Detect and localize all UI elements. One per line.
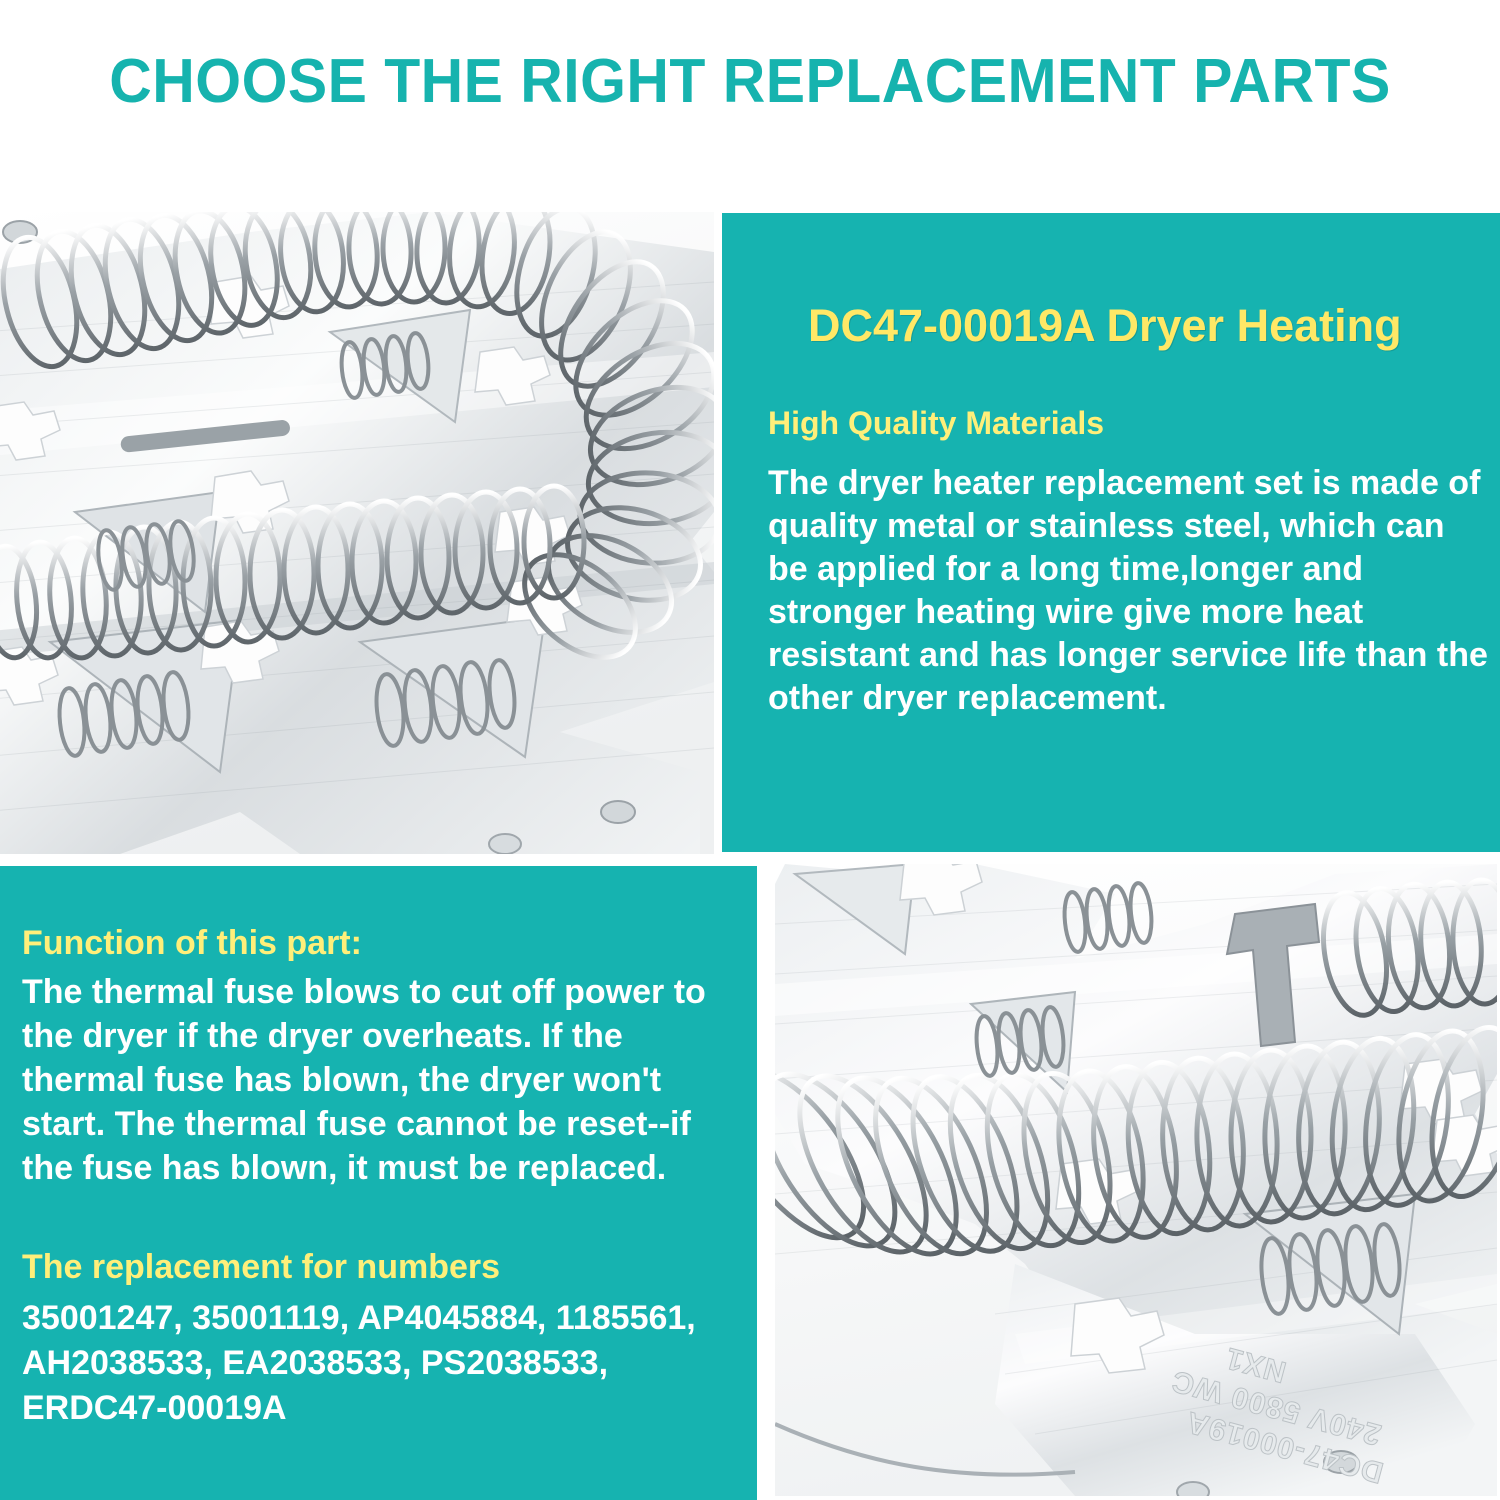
quality-subtitle: High Quality Materials	[768, 403, 1468, 443]
page-title: CHOOSE THE RIGHT REPLACEMENT PARTS	[38, 46, 1463, 118]
replacement-numbers-list: 35001247, 35001119, AP4045884, 1185561, …	[22, 1296, 722, 1431]
bottom-info-panel: Function of this part: The thermal fuse …	[0, 866, 757, 1500]
replacement-numbers-heading: The replacement for numbers	[22, 1246, 722, 1288]
heating-element-illustration-top: P13312	[0, 212, 714, 854]
function-description: The thermal fuse blows to cut off power …	[22, 970, 750, 1190]
top-info-panel: DC47-00019A Dryer Heating High Quality M…	[722, 213, 1500, 852]
bottom-product-image: DC47-00019A 240V 5800 WC NX1	[775, 864, 1497, 1496]
quality-description: The dryer heater replacement set is made…	[768, 462, 1490, 720]
top-product-image: P13312	[0, 212, 714, 854]
function-heading: Function of this part:	[22, 922, 722, 964]
heating-element-illustration-bottom: DC47-00019A 240V 5800 WC NX1	[775, 864, 1497, 1496]
product-model-title: DC47-00019A Dryer Heating	[808, 299, 1478, 353]
